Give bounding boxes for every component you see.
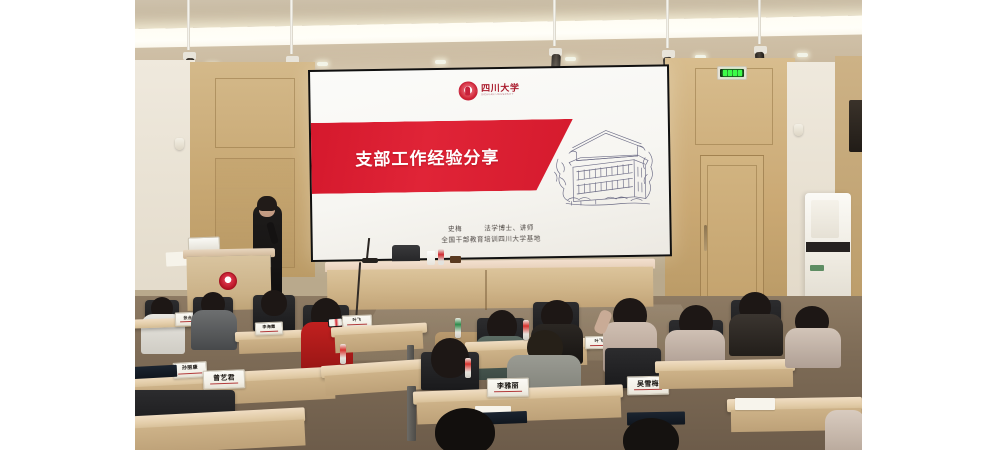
ceiling-downlight bbox=[435, 60, 446, 64]
head-table-front-panel bbox=[327, 267, 653, 310]
audience-member-head bbox=[431, 338, 469, 378]
slide-presenter-info: 史梅法学博士、讲师 全国干部教育培训四川大学基地 bbox=[312, 222, 669, 248]
audience-nameplate: 李雅丽 bbox=[487, 378, 529, 398]
slide-title: 支部工作经验分享 bbox=[355, 143, 499, 170]
university-name-en: SICHUAN UNIVERSITY bbox=[481, 94, 519, 97]
nameplate-rule bbox=[179, 372, 202, 374]
wall-mounted-sensor bbox=[794, 124, 803, 136]
university-logo: 四川大学 SICHUAN UNIVERSITY bbox=[458, 81, 520, 101]
water-bottle bbox=[465, 358, 471, 378]
nameplate-text: 叶飞 bbox=[595, 339, 604, 343]
wall-speaker bbox=[849, 100, 862, 152]
presenter-credentials: 法学博士、讲师 bbox=[484, 225, 534, 233]
audience-desk-front bbox=[659, 369, 793, 389]
emergency-exit-sign bbox=[717, 66, 747, 80]
ceiling-downlight bbox=[565, 57, 576, 61]
table-nameplate bbox=[450, 256, 461, 263]
speaker-suspension-rod bbox=[666, 0, 669, 48]
nameplate-text: 孙丽康 bbox=[182, 366, 198, 372]
speaker-suspension-rod bbox=[553, 0, 556, 46]
nameplate-rule bbox=[210, 383, 239, 385]
nameplate-text: 吴雪梅 bbox=[637, 381, 659, 388]
head-table-seam bbox=[485, 270, 487, 310]
audience-member-body bbox=[191, 310, 237, 350]
nameplate-rule bbox=[634, 389, 663, 391]
ceiling-downlight bbox=[317, 62, 328, 66]
paper-sheet bbox=[735, 398, 775, 410]
speaker-suspension-rod bbox=[758, 0, 761, 44]
nameplate-rule bbox=[494, 391, 523, 393]
foreground-audience-body bbox=[825, 410, 862, 450]
water-bottle bbox=[523, 320, 529, 340]
phone-screen bbox=[329, 319, 342, 327]
university-logo-text: 四川大学 SICHUAN UNIVERSITY bbox=[481, 84, 520, 98]
water-bottle bbox=[438, 249, 444, 265]
ceiling-downlight bbox=[797, 53, 808, 57]
presentation-slide: 四川大学 SICHUAN UNIVERSITY 支部工作经验分享 bbox=[310, 66, 670, 260]
wall-panel-inset bbox=[215, 78, 295, 148]
audience-member-body bbox=[729, 314, 783, 356]
door-panel-inset bbox=[707, 165, 757, 307]
nameplate-text: 李雅丽 bbox=[497, 383, 519, 390]
speaker-suspension-rod bbox=[187, 0, 190, 50]
audience-nameplate: 曾艺君 bbox=[203, 369, 246, 389]
door-handle[interactable] bbox=[704, 225, 707, 251]
slide-title-banner: 支部工作经验分享 bbox=[310, 119, 574, 194]
projection-screen: 四川大学 SICHUAN UNIVERSITY 支部工作经验分享 bbox=[308, 64, 672, 262]
nameplate-text: 曾艺君 bbox=[213, 374, 235, 382]
conference-room-photograph: 四川大学 SICHUAN UNIVERSITY 支部工作经验分享 bbox=[135, 0, 862, 450]
speaker-suspension-rod bbox=[290, 0, 293, 54]
audience-member-head bbox=[261, 290, 287, 316]
water-bottle bbox=[340, 344, 346, 364]
university-emblem-icon bbox=[458, 81, 477, 100]
university-crest-icon bbox=[219, 272, 237, 290]
campus-building-sketch-icon bbox=[552, 115, 656, 215]
air-conditioner-display-band bbox=[806, 242, 850, 252]
air-conditioner-vent bbox=[811, 200, 839, 238]
presenter-name: 史梅 bbox=[448, 226, 462, 233]
presenter-hair bbox=[257, 196, 277, 211]
exit-sign-glyphs bbox=[720, 69, 744, 77]
audience-member-body bbox=[785, 328, 841, 368]
nameplate-text: 李海霞 bbox=[262, 325, 275, 329]
foreground-audience-head bbox=[435, 408, 495, 450]
water-cup bbox=[427, 251, 435, 265]
university-name-cn: 四川大学 bbox=[481, 84, 520, 94]
nameplate-text: 叶飞 bbox=[353, 318, 362, 322]
air-conditioner-badge bbox=[810, 265, 824, 271]
nameplate-rule bbox=[260, 330, 279, 332]
microphone-base bbox=[362, 258, 378, 263]
audience-nameplate: 李海霞 bbox=[255, 322, 283, 336]
water-bottle bbox=[455, 318, 461, 338]
wall-mounted-sensor bbox=[175, 138, 184, 150]
laptop[interactable] bbox=[135, 365, 177, 379]
photo-letterbox-frame: 四川大学 SICHUAN UNIVERSITY 支部工作经验分享 bbox=[0, 0, 998, 450]
